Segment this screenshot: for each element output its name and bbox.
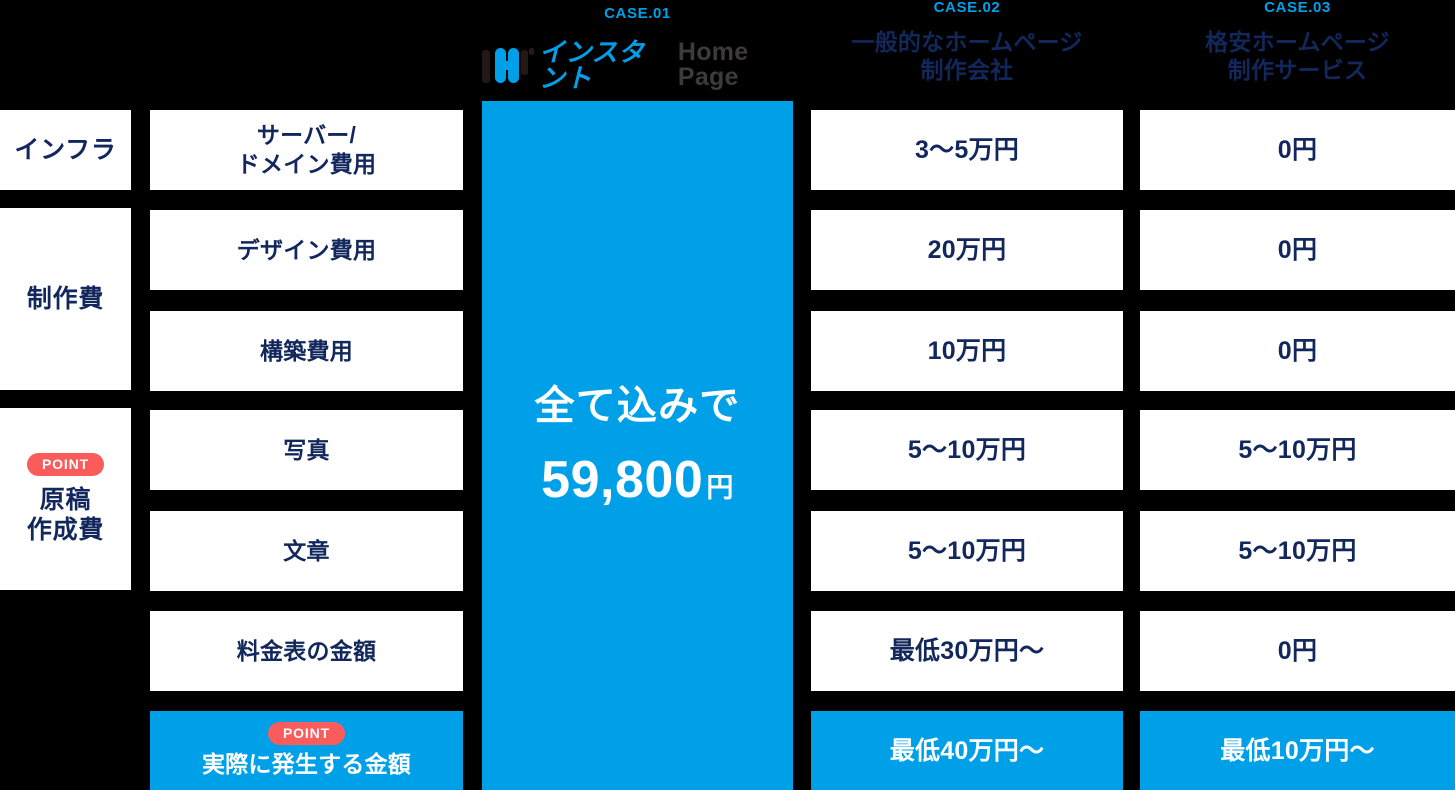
case02-title-line2: 制作会社 (811, 56, 1123, 84)
cell-value: 5〜10万円 (1238, 536, 1356, 566)
row-label-build-text: 構築費用 (260, 337, 353, 366)
case03-value-actual-cost: 最低10万円〜 (1140, 711, 1455, 790)
cell-value: 最低10万円〜 (1220, 736, 1375, 766)
point-badge: POINT (268, 722, 345, 745)
group-cell-manuscript: POINT 原稿 作成費 (0, 408, 131, 590)
case02-title: 一般的なホームページ 制作会社 (811, 28, 1123, 84)
column-header-case02: CASE.02 一般的なホームページ 制作会社 (811, 0, 1123, 101)
row-label-server-domain-line2: ドメイン費用 (237, 150, 376, 179)
case02-value-server-domain: 3〜5万円 (811, 110, 1123, 190)
case01-price-amount: 59,800 (541, 454, 703, 506)
group-label-infra: インフラ (14, 135, 116, 166)
case03-value-design: 0円 (1140, 210, 1455, 290)
cell-value: 0円 (1278, 135, 1317, 165)
case03-value-text: 5〜10万円 (1140, 511, 1455, 591)
case02-value-text: 5〜10万円 (811, 511, 1123, 591)
case02-value-actual-cost: 最低40万円〜 (811, 711, 1123, 790)
row-label-server-domain: サーバー/ ドメイン費用 (150, 110, 463, 190)
pricing-comparison-table: CASE.01 インスタント Home Page CASE.02 一般的なホーム… (0, 0, 1455, 790)
cell-value: 20万円 (928, 235, 1007, 265)
case03-value-price-list: 0円 (1140, 611, 1455, 691)
logo-text-en: Home Page (678, 40, 793, 90)
column-header-case01: CASE.01 インスタント Home Page (482, 0, 793, 101)
row-label-photo: 写真 (150, 410, 463, 490)
case02-title-line1: 一般的なホームページ (811, 28, 1123, 56)
logo-text-jp: インスタント (539, 39, 671, 91)
case01-logo: インスタント Home Page (482, 39, 793, 91)
group-cell-infra: インフラ (0, 110, 131, 190)
row-label-actual-cost-text: 実際に発生する金額 (202, 750, 411, 779)
case03-case-label: CASE.03 (1140, 0, 1455, 15)
case03-title-line1: 格安ホームページ (1140, 28, 1455, 56)
row-label-design: デザイン費用 (150, 210, 463, 290)
cell-value: 0円 (1278, 336, 1317, 366)
instant-homepage-logo-icon (482, 47, 532, 83)
case01-highlight-caption: 全て込みで (535, 386, 741, 426)
cell-value: 5〜10万円 (1238, 435, 1356, 465)
point-badge: POINT (27, 453, 104, 476)
case03-value-server-domain: 0円 (1140, 110, 1455, 190)
cell-value: 10万円 (928, 336, 1007, 366)
cell-value: 5〜10万円 (908, 435, 1026, 465)
cell-value: 0円 (1278, 235, 1317, 265)
row-label-price-list: 料金表の金額 (150, 611, 463, 691)
case03-title-line2: 制作サービス (1140, 56, 1455, 84)
case02-value-design: 20万円 (811, 210, 1123, 290)
cell-value: 最低30万円〜 (890, 636, 1045, 666)
cell-value: 最低40万円〜 (890, 736, 1045, 766)
case02-value-build: 10万円 (811, 311, 1123, 391)
case03-value-photo: 5〜10万円 (1140, 410, 1455, 490)
row-label-server-domain-line1: サーバー/ (257, 121, 356, 150)
case02-value-price-list: 最低30万円〜 (811, 611, 1123, 691)
case03-value-build: 0円 (1140, 311, 1455, 391)
row-label-actual-cost: POINT 実際に発生する金額 (150, 711, 463, 790)
case02-case-label: CASE.02 (811, 0, 1123, 15)
case01-case-label: CASE.01 (482, 6, 793, 21)
column-header-case03: CASE.03 格安ホームページ 制作サービス (1140, 0, 1455, 101)
case01-price-unit: 円 (706, 475, 734, 502)
cell-value: 0円 (1278, 636, 1317, 666)
case01-highlight-price: 59,800 円 (541, 454, 734, 506)
row-label-photo-text: 写真 (283, 436, 329, 465)
row-label-design-text: デザイン費用 (237, 236, 376, 265)
cell-value: 3〜5万円 (915, 135, 1019, 165)
group-label-production: 制作費 (27, 284, 104, 315)
row-label-text: 文章 (150, 511, 463, 591)
group-cell-production: 制作費 (0, 208, 131, 390)
group-label-manuscript-line2: 作成費 (27, 515, 104, 546)
row-label-text-text: 文章 (283, 537, 329, 566)
row-label-build: 構築費用 (150, 311, 463, 391)
case01-highlight-column: 全て込みで 59,800 円 (482, 101, 793, 790)
cell-value: 5〜10万円 (908, 536, 1026, 566)
case02-value-photo: 5〜10万円 (811, 410, 1123, 490)
group-label-manuscript-line1: 原稿 (40, 485, 92, 516)
row-label-price-list-text: 料金表の金額 (237, 637, 376, 666)
case03-title: 格安ホームページ 制作サービス (1140, 28, 1455, 84)
